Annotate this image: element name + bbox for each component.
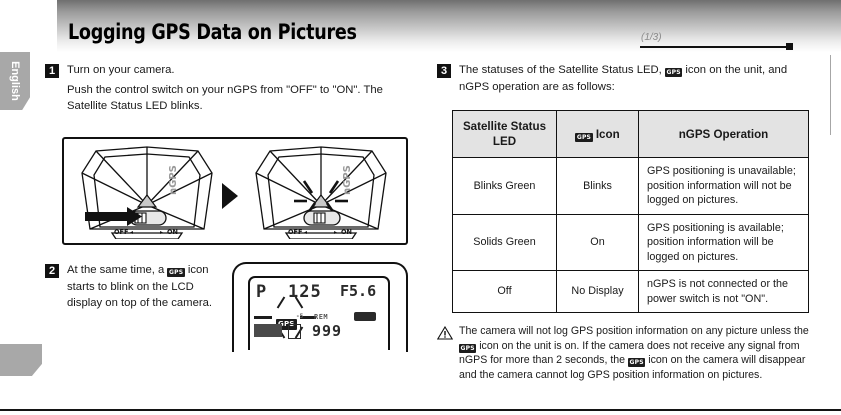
lcd-aperture: F5.6 bbox=[340, 282, 376, 300]
warning-triangle-icon bbox=[437, 326, 453, 340]
header-rule bbox=[640, 46, 792, 48]
language-tab: English bbox=[0, 52, 30, 110]
warning-note: The camera will not log GPS position inf… bbox=[437, 324, 815, 382]
cell-operation: GPS positioning is available; position i… bbox=[639, 214, 809, 271]
step-1: 1 Turn on your camera. Push the control … bbox=[45, 62, 420, 115]
step-1-detail: Push the control switch on your nGPS fro… bbox=[67, 82, 420, 115]
step-1-body: Turn on your camera. Push the control sw… bbox=[67, 62, 420, 115]
lcd-mode: P bbox=[256, 282, 266, 302]
svg-text:▸: ▸ bbox=[334, 229, 337, 236]
ngps-device-on: OFF ◂ ▸ ON nGPS bbox=[246, 143, 396, 239]
lcd-battery-icon bbox=[354, 312, 376, 321]
svg-text:nGPS: nGPS bbox=[168, 165, 179, 195]
gps-badge-icon: GPS bbox=[167, 268, 184, 277]
table-header-row: Satellite Status LED GPS Icon nGPS Opera… bbox=[453, 111, 809, 158]
table-row: Solids Green On GPS positioning is avail… bbox=[453, 214, 809, 271]
step-1-number: 1 bbox=[45, 64, 59, 78]
svg-text:◂: ◂ bbox=[304, 229, 307, 236]
gps-badge-icon: GPS bbox=[575, 133, 592, 142]
lcd-metering-icons bbox=[254, 324, 282, 337]
lcd-remaining-count: 999 bbox=[312, 322, 342, 340]
step-2-body: At the same time, a GPS icon starts to b… bbox=[67, 262, 230, 312]
illustration-switch-panel: OFF ◂ ▸ ON nGPS bbox=[62, 137, 408, 245]
step-3-text-before: The statuses of the Satellite Status LED… bbox=[459, 64, 665, 76]
left-column: 1 Turn on your camera. Push the control … bbox=[45, 62, 420, 118]
lcd-remaining-label: REM bbox=[314, 313, 328, 321]
svg-text:ON: ON bbox=[341, 228, 352, 236]
gps-badge-icon: GPS bbox=[665, 68, 682, 77]
svg-text:◂: ◂ bbox=[130, 229, 133, 236]
step-3-number: 3 bbox=[437, 64, 451, 78]
step-3: 3 The statuses of the Satellite Status L… bbox=[437, 62, 809, 95]
language-tab-label: English bbox=[0, 52, 30, 110]
step-2: 2 At the same time, a GPS icon starts to… bbox=[45, 262, 230, 312]
gps-badge-icon: GPS bbox=[459, 344, 476, 353]
cell-icon: Blinks bbox=[557, 158, 639, 215]
table-row: Off No Display nGPS is not connected or … bbox=[453, 271, 809, 313]
right-column: 3 The statuses of the Satellite Status L… bbox=[437, 62, 809, 95]
step-2-number: 2 bbox=[45, 264, 59, 278]
page-title: Logging GPS Data on Pictures bbox=[68, 20, 357, 44]
table-row: Blinks Green Blinks GPS positioning is u… bbox=[453, 158, 809, 215]
illustration-lcd-panel: P 125 F5.6 GPS REM 999 -5 bbox=[232, 262, 404, 350]
svg-text:OFF: OFF bbox=[288, 228, 302, 236]
lcd-frame-icon bbox=[288, 324, 301, 339]
bottom-rule bbox=[0, 409, 841, 411]
step-2-text-before: At the same time, a bbox=[67, 264, 167, 276]
right-arrow-icon bbox=[222, 183, 238, 209]
warning-note-body: The camera will not log GPS position inf… bbox=[459, 324, 815, 382]
cell-led: Blinks Green bbox=[453, 158, 557, 215]
table-header-icon: GPS Icon bbox=[557, 111, 639, 158]
cell-operation: nGPS is not connected or the power switc… bbox=[639, 271, 809, 313]
cell-led: Solids Green bbox=[453, 214, 557, 271]
cell-icon: On bbox=[557, 214, 639, 271]
page-number-label: 08 bbox=[8, 6, 22, 21]
table-header-led: Satellite Status LED bbox=[453, 111, 557, 158]
svg-text:OFF: OFF bbox=[114, 228, 128, 236]
lcd-blink-ray-left bbox=[254, 316, 272, 319]
right-margin-rule bbox=[830, 55, 831, 135]
lcd-flash-comp: -5 bbox=[296, 313, 303, 320]
svg-text:▸: ▸ bbox=[160, 229, 163, 236]
table-header-operation: nGPS Operation bbox=[639, 111, 809, 158]
cell-operation: GPS positioning is unavailable; position… bbox=[639, 158, 809, 215]
table-header-icon-suffix: Icon bbox=[596, 128, 620, 141]
ngps-device-off: OFF ◂ ▸ ON nGPS bbox=[72, 143, 222, 239]
svg-text:ON: ON bbox=[167, 228, 178, 236]
lcd-shutter-speed: 125 bbox=[288, 282, 322, 302]
svg-text:nGPS: nGPS bbox=[342, 165, 353, 195]
cell-led: Off bbox=[453, 271, 557, 313]
page-number-tab bbox=[0, 344, 42, 376]
step-3-body: The statuses of the Satellite Status LED… bbox=[459, 62, 809, 95]
step-indicator: (1/3) bbox=[641, 32, 662, 43]
status-table: Satellite Status LED GPS Icon nGPS Opera… bbox=[452, 110, 809, 313]
step-1-heading: Turn on your camera. bbox=[67, 62, 420, 79]
note-part-1: The camera will not log GPS position inf… bbox=[459, 325, 809, 337]
cell-icon: No Display bbox=[557, 271, 639, 313]
gps-badge-icon: GPS bbox=[628, 358, 645, 367]
